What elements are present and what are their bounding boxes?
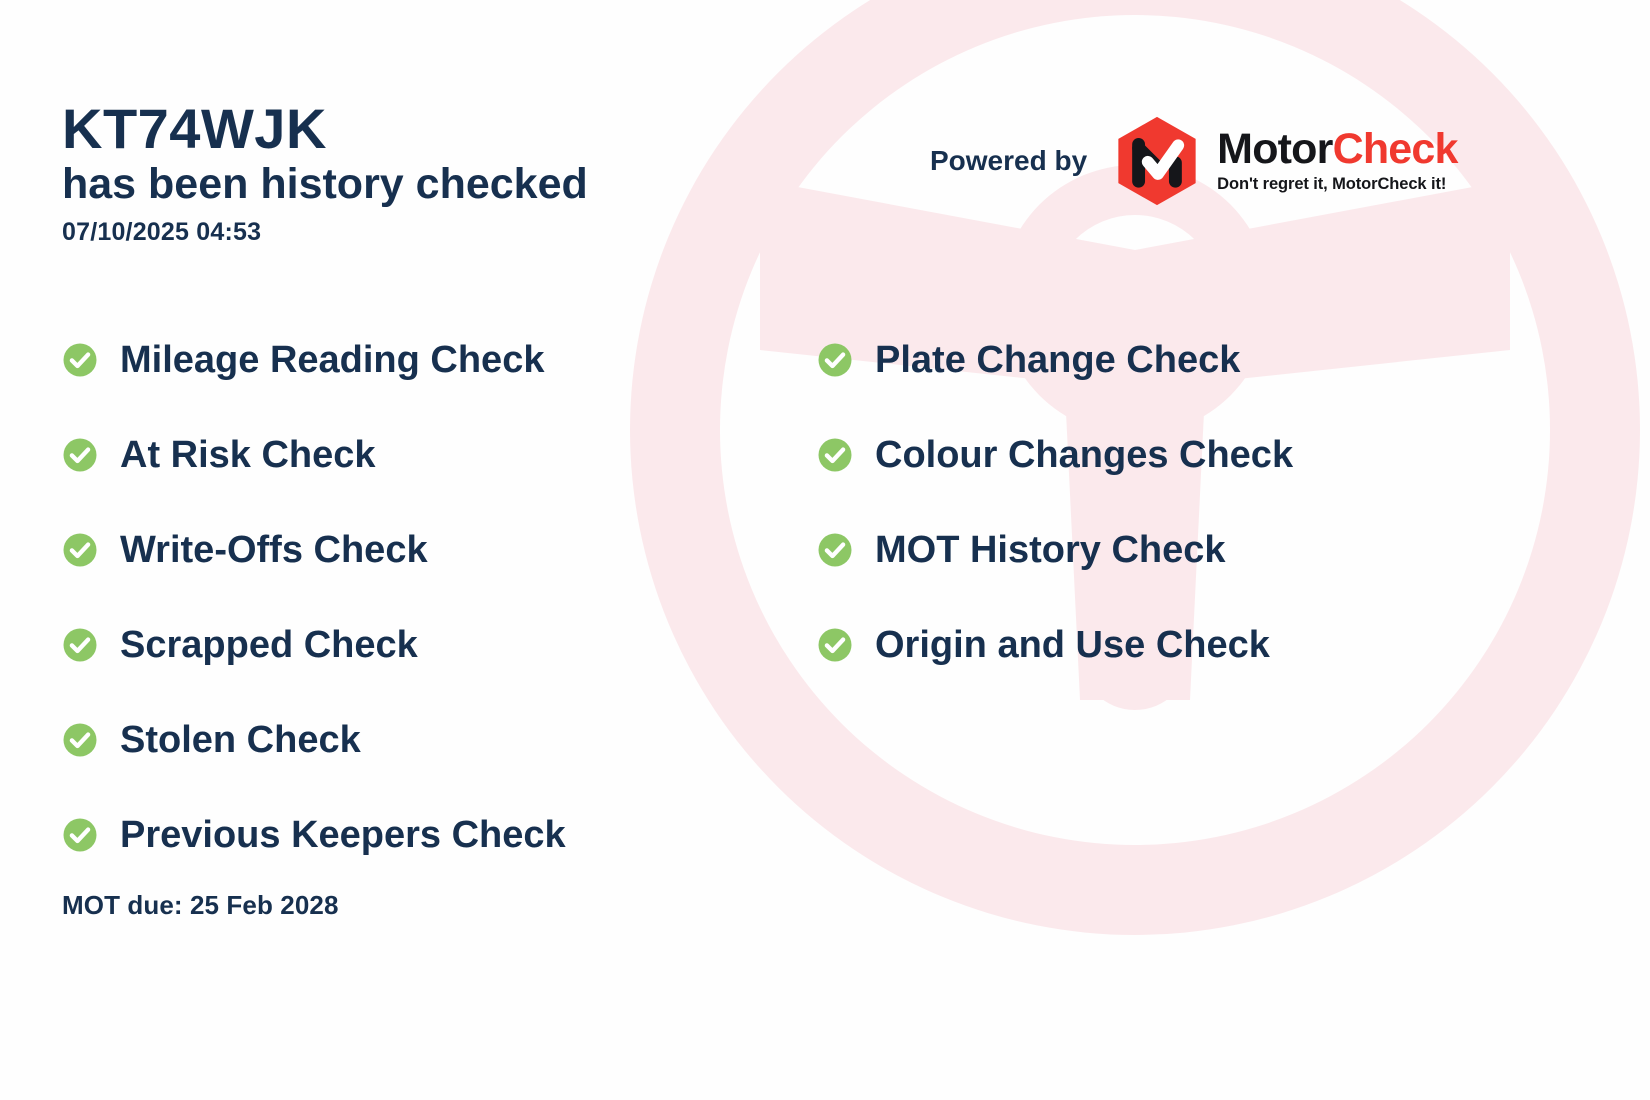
check-item-label: Colour Changes Check: [875, 436, 1293, 474]
vehicle-history-check-card: KT74WJK has been history checked 07/10/2…: [0, 0, 1650, 1100]
motorcheck-hexagon-logo-icon: [1111, 115, 1203, 207]
checks-column-right: Plate Change CheckColour Changes CheckMO…: [817, 312, 1457, 692]
check-item: Stolen Check: [62, 692, 782, 787]
powered-by-block: Powered by MotorCheck Don't regret it, M…: [930, 115, 1458, 207]
wordmark-motor: Motor: [1217, 125, 1332, 173]
check-circle-icon: [62, 627, 98, 663]
check-circle-icon: [817, 342, 853, 378]
check-item: Plate Change Check: [817, 312, 1457, 407]
wordmark-check: Check: [1333, 125, 1458, 173]
check-circle-icon: [62, 817, 98, 853]
page-title: has been history checked: [62, 159, 588, 210]
check-circle-icon: [62, 437, 98, 473]
motorcheck-wordmark: MotorCheck: [1217, 128, 1457, 171]
motorcheck-wordmark-block: MotorCheck Don't regret it, MotorCheck i…: [1217, 128, 1457, 194]
mot-due-label: MOT due: 25 Feb 2028: [62, 890, 339, 921]
check-circle-icon: [62, 722, 98, 758]
check-item-label: Previous Keepers Check: [120, 816, 566, 854]
check-item: Scrapped Check: [62, 597, 782, 692]
check-timestamp: 07/10/2025 04:53: [62, 218, 588, 247]
check-item: Write-Offs Check: [62, 502, 782, 597]
header-block: KT74WJK has been history checked 07/10/2…: [62, 100, 588, 247]
powered-by-label: Powered by: [930, 145, 1087, 177]
check-item-label: MOT History Check: [875, 531, 1226, 569]
check-item-label: Mileage Reading Check: [120, 341, 544, 379]
check-circle-icon: [62, 532, 98, 568]
check-item-label: Plate Change Check: [875, 341, 1240, 379]
checks-column-left: Mileage Reading CheckAt Risk CheckWrite-…: [62, 312, 782, 882]
registration-plate: KT74WJK: [62, 100, 588, 157]
check-item: Mileage Reading Check: [62, 312, 782, 407]
check-item-label: Scrapped Check: [120, 626, 418, 664]
check-item: Origin and Use Check: [817, 597, 1457, 692]
check-item: At Risk Check: [62, 407, 782, 502]
check-item-label: Stolen Check: [120, 721, 361, 759]
check-item-label: Origin and Use Check: [875, 626, 1270, 664]
check-circle-icon: [817, 532, 853, 568]
motorcheck-logo[interactable]: MotorCheck Don't regret it, MotorCheck i…: [1111, 115, 1457, 207]
check-item: MOT History Check: [817, 502, 1457, 597]
check-item: Colour Changes Check: [817, 407, 1457, 502]
motorcheck-tagline: Don't regret it, MotorCheck it!: [1217, 175, 1457, 194]
check-item: Previous Keepers Check: [62, 787, 782, 882]
check-item-label: At Risk Check: [120, 436, 376, 474]
check-circle-icon: [817, 627, 853, 663]
check-item-label: Write-Offs Check: [120, 531, 428, 569]
check-circle-icon: [62, 342, 98, 378]
check-circle-icon: [817, 437, 853, 473]
